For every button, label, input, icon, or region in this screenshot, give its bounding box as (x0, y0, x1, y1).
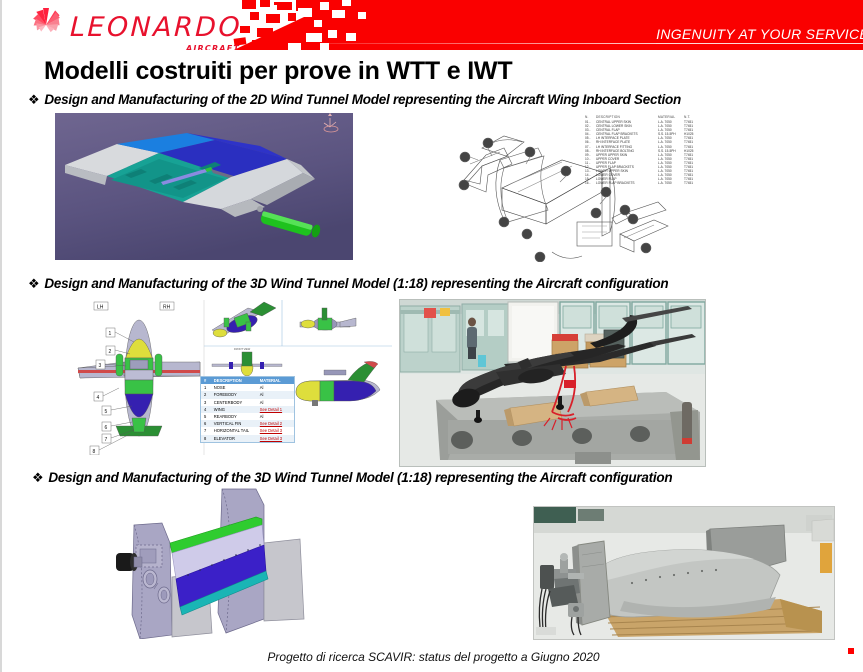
pixel-block (252, 40, 260, 46)
svg-text:3: 3 (99, 363, 102, 369)
pixel-block (260, 0, 270, 7)
leonardo-logo: LEONARDO AIRCRAFT (28, 6, 242, 42)
svg-text:13: 13 (485, 141, 490, 146)
cell-description: LOWER FLAP BRACKETS (596, 181, 658, 185)
svg-text:FRONT VIEW: FRONT VIEW (234, 347, 251, 351)
cad-aircraft-3d-views: LH RH 1 2 3 4 5 6 7 8 (64, 300, 392, 455)
cell-material: See Detail 2 (260, 420, 294, 427)
pixel-block (278, 30, 287, 37)
th-material: MATERIAL (260, 377, 294, 384)
cell-num: 3 (201, 399, 214, 406)
bullet-diamond-icon: ❖ (28, 276, 39, 291)
pixel-block (257, 28, 273, 37)
svg-text:LH: LH (97, 305, 104, 311)
photo-wing-model (533, 506, 835, 640)
photo-aircraft-model (399, 299, 706, 467)
cell-description: CENTERBODY (214, 399, 260, 406)
cell-num: 6 (201, 420, 214, 427)
pixel-block-light (342, 0, 351, 6)
pixel-block-light (346, 33, 356, 41)
parts-table-aircraft-row: 3CENTERBODYAl (201, 399, 294, 406)
pixel-block (242, 0, 256, 9)
cell-n: 16 - (585, 181, 596, 185)
th-nt: N.T. (684, 115, 702, 119)
page-title: Modelli costruiti per prove in WTT e IWT (44, 57, 512, 86)
bullet-text-3: Design and Manufacturing of the 3D Wind … (48, 470, 672, 485)
pixel-block-light (270, 5, 277, 11)
svg-text:1: 1 (109, 331, 112, 337)
pixel-block-light (306, 33, 322, 42)
cell-material: Al (260, 391, 294, 398)
cell-description: FOREBODY (214, 391, 260, 398)
cell-num: 2 (201, 391, 214, 398)
bullet-text-2: Design and Manufacturing of the 3D Wind … (44, 276, 668, 291)
svg-text:10: 10 (603, 190, 608, 195)
pixel-block-light (246, 20, 253, 26)
cell-description: VERTICAL FIN (214, 420, 260, 427)
slide-canvas: LEONARDO AIRCRAFT INGENUITY AT YOUR SERV… (0, 0, 863, 672)
svg-text:RH: RH (163, 305, 171, 311)
pixel-block-light (332, 10, 345, 18)
pixel-block-light (314, 20, 322, 27)
cell-description: WING (214, 406, 260, 413)
cell-num: 7 (201, 427, 214, 434)
svg-text:2: 2 (109, 349, 112, 355)
svg-text:16: 16 (461, 183, 466, 188)
bullet-item-2: ❖Design and Manufacturing of the 3D Wind… (28, 276, 668, 292)
cell-material: Al (260, 413, 294, 420)
bullet-item-1: ❖Design and Manufacturing of the 2D Wind… (28, 92, 681, 108)
parts-table-mini: N. DESCRIPTION MATERIAL N.T. 01 -CENTRAL… (585, 115, 705, 186)
cell-description: ELEVATOR (214, 435, 260, 442)
pixel-block (302, 22, 313, 30)
svg-text:5: 5 (105, 409, 108, 415)
pixel-block-light (320, 43, 329, 50)
svg-text:04: 04 (630, 217, 635, 222)
bullet-diamond-icon: ❖ (28, 92, 39, 107)
cell-num: 5 (201, 413, 214, 420)
tagline: INGENUITY AT YOUR SERVICE (656, 26, 863, 44)
pixel-block-light (298, 8, 312, 17)
parts-table-aircraft-row: 2FOREBODYAl (201, 391, 294, 398)
cell-num: 4 (201, 406, 214, 413)
parts-table-aircraft-row: 4WINGSee Detail 1 (201, 406, 294, 413)
drawing-exploded-assembly: 13 14 9 16 11 12 04 10 06 07 04 15 05 N. (442, 112, 732, 262)
cell-material: Al (260, 384, 294, 391)
svg-text:6: 6 (105, 425, 108, 431)
th-n: N. (585, 115, 596, 119)
parts-table-aircraft-row: 8ELEVATORSee Detail 3 (201, 435, 294, 442)
svg-text:15: 15 (643, 246, 648, 251)
pixel-block (270, 41, 284, 49)
parts-table-aircraft-row: 1NOSEAl (201, 384, 294, 391)
logo-wordmark: LEONARDO (70, 14, 243, 41)
parts-table-mini-row: 16 -LOWER FLAP BRACKETSL.A. 7050T7451 (585, 181, 705, 185)
cad-wing-endplate-model (114, 487, 430, 639)
th-description: DESCRIPTION (214, 377, 260, 384)
parts-table-aircraft-row: 5REARBODYAl (201, 413, 294, 420)
cell-description: NOSE (214, 384, 260, 391)
bullet-item-3: ❖Design and Manufacturing of the 3D Wind… (32, 470, 672, 486)
pixel-block-light (288, 43, 301, 50)
cell-material: See Detail 1 (260, 406, 294, 413)
cell-description: HORIZONTAL TAIL (214, 427, 260, 434)
bullet-diamond-icon: ❖ (32, 470, 43, 485)
svg-text:4: 4 (97, 395, 100, 401)
cell-nt: T7451 (684, 181, 702, 185)
svg-text:7: 7 (105, 437, 108, 443)
cad-wing-2d-render (55, 113, 353, 260)
pixel-block (250, 12, 259, 20)
pixel-block-light (328, 30, 337, 38)
cell-material: Al (260, 399, 294, 406)
pixel-block-light (358, 12, 366, 19)
pixel-block-light (320, 2, 329, 10)
parts-table-aircraft-row: 6VERTICAL FINSee Detail 2 (201, 420, 294, 427)
footer-red-marker (848, 648, 854, 654)
cell-material: See Detail 3 (260, 427, 294, 434)
logo-subtitle: AIRCRAFT (186, 44, 240, 50)
leonardo-sunburst-icon (28, 6, 64, 42)
svg-text:05: 05 (537, 255, 542, 260)
parts-table-aircraft-row: 7HORIZONTAL TAILSee Detail 3 (201, 427, 294, 434)
svg-text:8: 8 (93, 449, 96, 455)
header-banner: LEONARDO AIRCRAFT INGENUITY AT YOUR SERV… (2, 0, 863, 50)
th-num: # (201, 377, 214, 384)
pixel-block (288, 13, 296, 21)
cell-num: 1 (201, 384, 214, 391)
svg-text:12: 12 (501, 220, 506, 225)
cell-num: 8 (201, 435, 214, 442)
bullet-text-1: Design and Manufacturing of the 2D Wind … (44, 92, 681, 107)
svg-text:04: 04 (524, 232, 529, 237)
cell-material: L.A. 7050 (658, 181, 684, 185)
svg-text:14: 14 (527, 150, 532, 155)
slide-footer: Progetto di ricerca SCAVIR: status del p… (2, 650, 863, 664)
svg-text:07: 07 (622, 208, 627, 213)
svg-text:06: 06 (593, 211, 598, 216)
th-material: MATERIAL (658, 115, 684, 119)
parts-table-aircraft-header: # DESCRIPTION MATERIAL (201, 377, 294, 384)
cell-description: REARBODY (214, 413, 260, 420)
cell-material: See Detail 3 (260, 435, 294, 442)
th-description: DESCRIPTION (596, 115, 658, 119)
parts-table-aircraft: # DESCRIPTION MATERIAL 1NOSEAl2FOREBODYA… (200, 376, 295, 443)
pixel-block (266, 14, 280, 23)
